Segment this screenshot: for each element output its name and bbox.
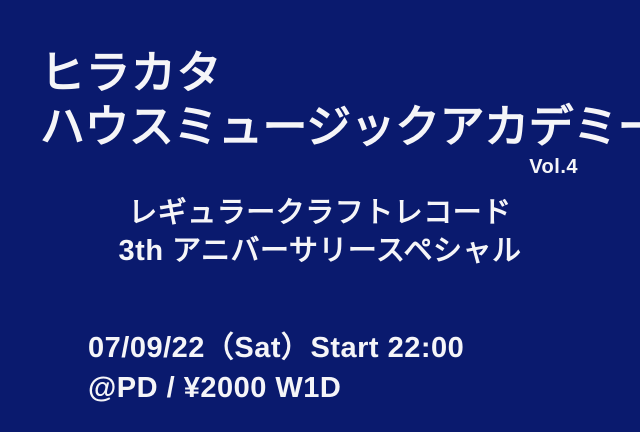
subtitle-line-1: レギュラークラフトレコード (0, 194, 640, 232)
event-title-line-1: ヒラカタ (40, 46, 610, 100)
volume-label: Vol.4 (529, 156, 578, 178)
event-title-line-2: ハウスミュージックアカデミー (40, 100, 610, 154)
subtitle-line-2: 3th アニバーサリースペシャル (0, 232, 640, 270)
event-details-block: 07/09/22（Sat）Start 22:00 @PD / ¥2000 W1D (88, 328, 620, 408)
event-date-time: 07/09/22（Sat）Start 22:00 (88, 328, 620, 368)
title-block: ヒラカタ ハウスミュージックアカデミー Vol.4 (40, 46, 610, 178)
event-flyer: ヒラカタ ハウスミュージックアカデミー Vol.4 レギュラークラフトレコード … (0, 0, 640, 432)
event-venue-price: @PD / ¥2000 W1D (88, 368, 620, 408)
volume-row: Vol.4 (40, 156, 610, 178)
subtitle-block: レギュラークラフトレコード 3th アニバーサリースペシャル (0, 194, 640, 270)
